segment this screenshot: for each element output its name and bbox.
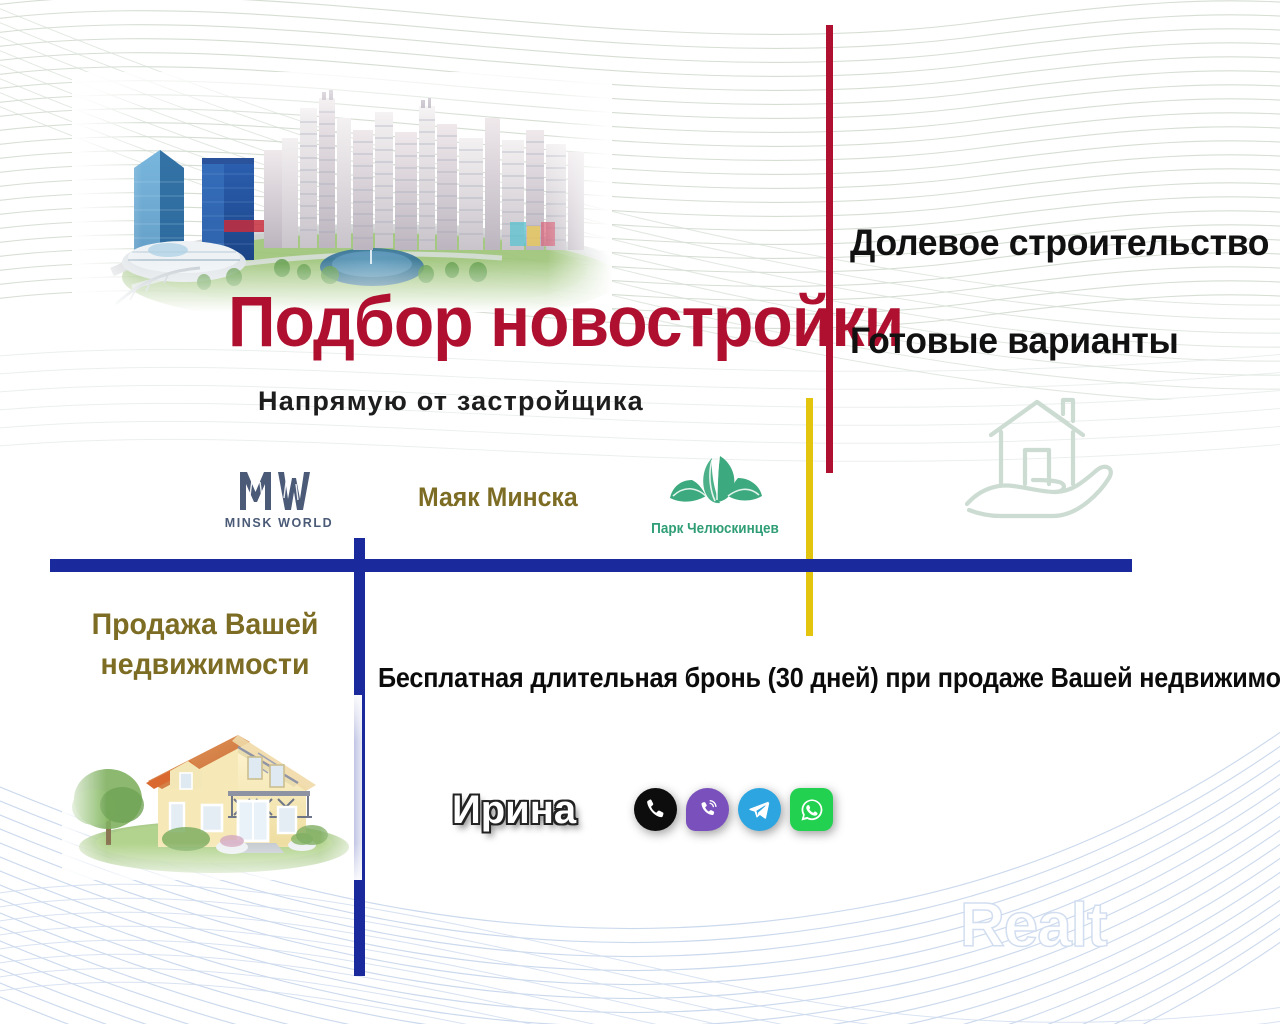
cottage-house-photo bbox=[62, 695, 362, 880]
leaf-icon bbox=[660, 452, 770, 514]
partner-label-minsk-world: MINSK WORLD bbox=[224, 516, 334, 530]
telegram-glyph bbox=[747, 797, 772, 822]
viber-icon[interactable] bbox=[686, 788, 729, 831]
city-skyline-photo bbox=[72, 72, 612, 312]
viber-glyph bbox=[696, 798, 720, 822]
contact-icons-group bbox=[634, 788, 833, 831]
whatsapp-icon[interactable] bbox=[790, 788, 833, 831]
booking-offer-text: Бесплатная длительная бронь (30 дней) пр… bbox=[378, 662, 1280, 694]
blue-horizontal-divider bbox=[50, 559, 1132, 572]
partner-logo-minsk-world[interactable]: MINSK WORLD bbox=[224, 468, 334, 530]
yellow-vertical-divider bbox=[806, 398, 813, 636]
offer-shared-construction: Долевое строительство bbox=[850, 222, 1269, 264]
page-subtitle: Напрямую от застройщика bbox=[258, 386, 644, 417]
phone-glyph bbox=[643, 797, 668, 822]
realt-watermark: Realt bbox=[960, 890, 1107, 961]
whatsapp-glyph bbox=[799, 797, 825, 823]
sell-property-title-line1: Продажа Вашей bbox=[92, 608, 319, 641]
telegram-icon[interactable] bbox=[738, 788, 781, 831]
partner-label-park: Парк Челюскинцев bbox=[648, 520, 783, 537]
partner-logo-mayak-minska[interactable]: Маяк Минска bbox=[418, 482, 578, 513]
sell-property-title: Продажа Вашей недвижимости bbox=[67, 605, 343, 685]
real-estate-banner: Подбор новостройки Напрямую от застройщи… bbox=[0, 0, 1280, 1024]
sell-property-title-line2: недвижимости bbox=[101, 648, 310, 681]
agent-name: Ирина bbox=[452, 788, 576, 833]
offer-ready-options: Готовые варианты bbox=[850, 320, 1179, 362]
mw-monogram-icon bbox=[224, 468, 334, 514]
page-title: Подбор новостройки bbox=[228, 285, 786, 361]
phone-icon[interactable] bbox=[634, 788, 677, 831]
partner-logo-park-chelyuskintsev[interactable]: Парк Челюскинцев bbox=[640, 452, 790, 537]
red-vertical-divider bbox=[826, 25, 833, 473]
house-in-hand-icon bbox=[955, 392, 1125, 527]
